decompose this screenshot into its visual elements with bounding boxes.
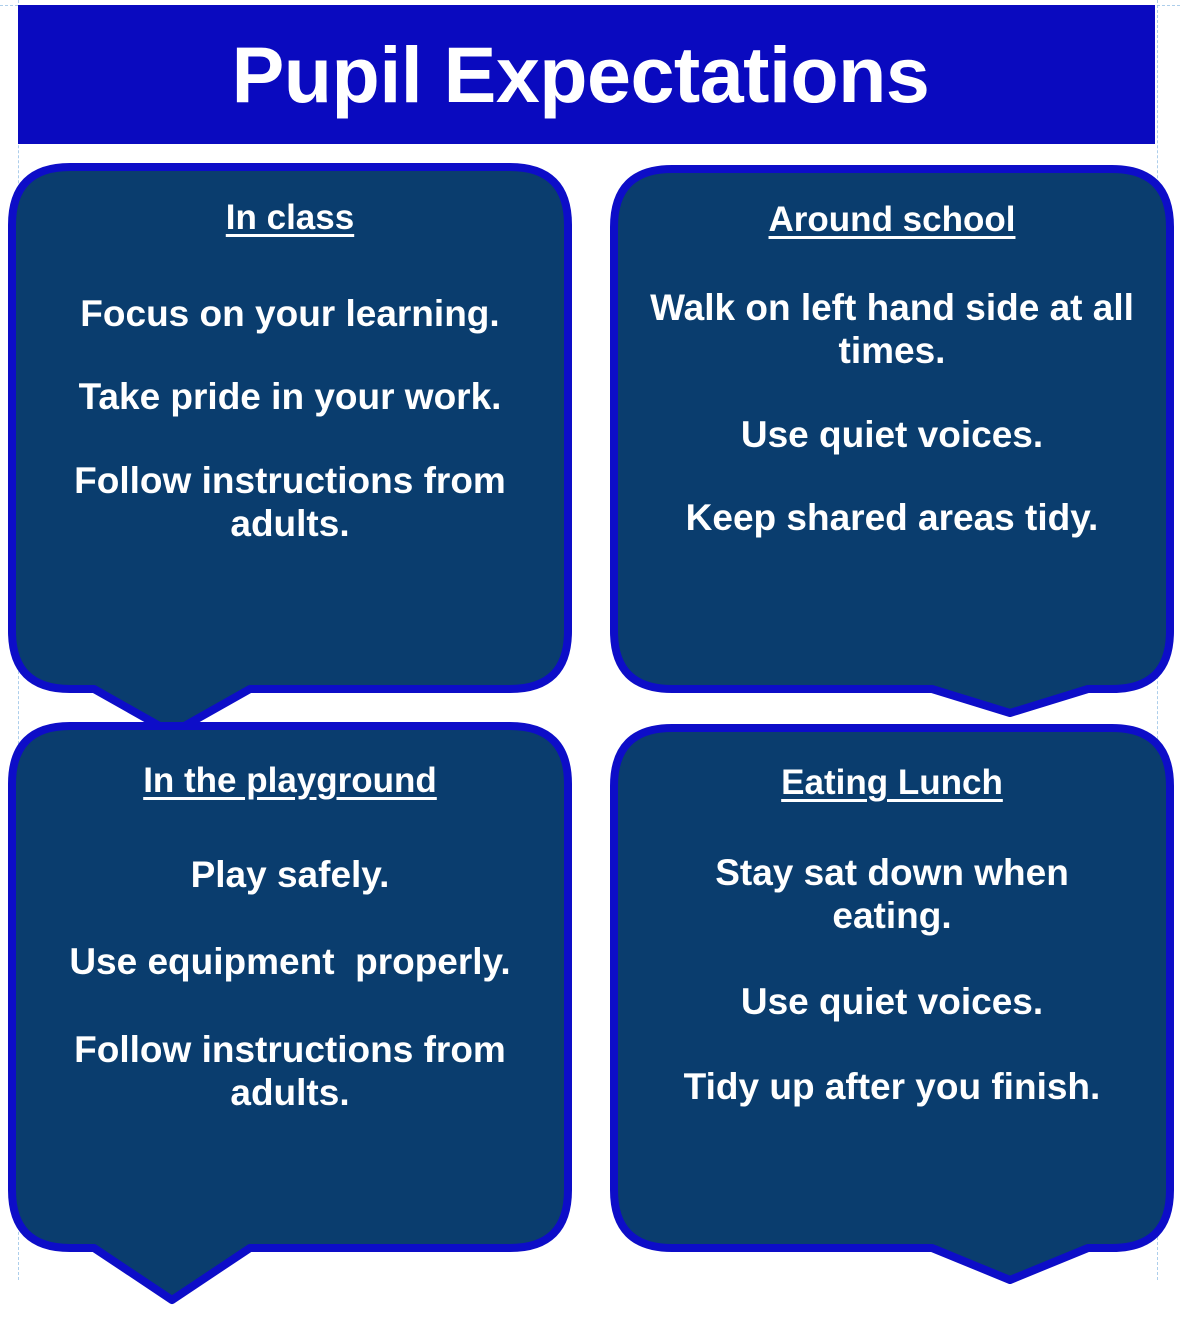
page-title: Pupil Expectations	[232, 35, 930, 114]
title-banner: Pupil Expectations	[18, 5, 1155, 144]
bubble-heading-around-school: Around school	[769, 201, 1016, 240]
bubble-line-in-class-2: Take pride in your work.	[50, 375, 530, 419]
bubble-line-eating-lunch-3: Tidy up after you finish.	[636, 1065, 1148, 1109]
bubble-line-around-school-2: Use quiet voices.	[642, 413, 1142, 457]
bubble-in-class[interactable]: In class Focus on your learning. Take pr…	[8, 163, 572, 738]
bubble-line-in-the-playground-2: Use equipment properly.	[26, 940, 554, 984]
bubble-line-in-the-playground-3: Follow instructions from adults.	[55, 1028, 525, 1115]
bubble-content-eating-lunch: Eating Lunch Stay sat down when eating. …	[610, 724, 1174, 1248]
bubble-eating-lunch[interactable]: Eating Lunch Stay sat down when eating. …	[610, 724, 1174, 1280]
bubble-line-in-class-3: Follow instructions from adults.	[55, 459, 525, 546]
bubble-in-the-playground[interactable]: In the playground Play safely. Use equip…	[8, 722, 572, 1280]
bubble-line-eating-lunch-1: Stay sat down when eating.	[667, 851, 1117, 938]
bubble-line-around-school-1: Walk on left hand side at all times.	[642, 286, 1142, 373]
bubble-heading-in-class: In class	[226, 199, 354, 238]
bubble-line-in-class-1: Focus on your learning.	[50, 292, 530, 336]
bubble-heading-eating-lunch: Eating Lunch	[781, 764, 1003, 803]
bubble-content-around-school: Around school Walk on left hand side at …	[610, 165, 1174, 689]
bubble-line-eating-lunch-2: Use quiet voices.	[642, 980, 1142, 1024]
pupil-expectations-poster: Pupil Expectations In class Focus on you…	[0, 0, 1180, 1280]
bubble-line-around-school-3: Keep shared areas tidy.	[637, 496, 1147, 540]
bubble-content-in-class: In class Focus on your learning. Take pr…	[8, 163, 572, 689]
bubble-around-school[interactable]: Around school Walk on left hand side at …	[610, 165, 1174, 725]
bubble-content-in-the-playground: In the playground Play safely. Use equip…	[8, 722, 572, 1248]
bubble-heading-in-the-playground: In the playground	[143, 762, 437, 801]
bubble-line-in-the-playground-1: Play safely.	[30, 853, 550, 897]
